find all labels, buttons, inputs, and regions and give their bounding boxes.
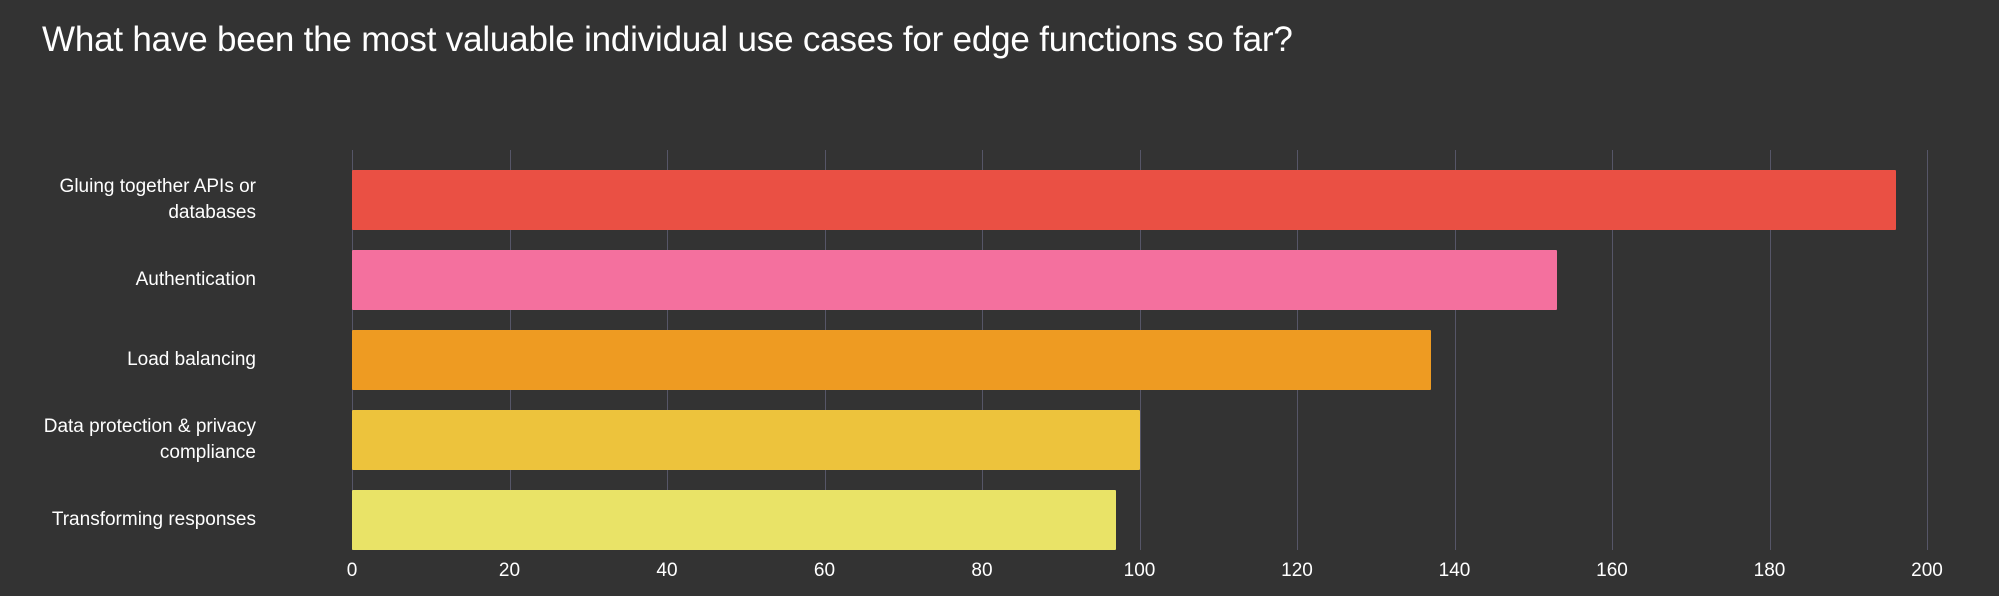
x-tick-label-180: 180: [1754, 560, 1786, 582]
chart-title: What have been the most valuable individ…: [42, 20, 1293, 60]
plot-area: Gluing together APIs or databasesAuthent…: [352, 150, 1927, 550]
x-tick-label-20: 20: [499, 560, 520, 582]
bar[interactable]: [352, 250, 1557, 310]
bar-row: Data protection & privacy compliance: [352, 390, 1927, 470]
x-tick-label-100: 100: [1124, 560, 1156, 582]
bar-row: Authentication: [352, 230, 1927, 310]
bar-chart: What have been the most valuable individ…: [0, 0, 1999, 596]
bar-row: Load balancing: [352, 310, 1927, 390]
category-label: Load balancing: [0, 347, 256, 373]
x-tick-label-200: 200: [1911, 560, 1943, 582]
category-label: Data protection & privacy compliance: [0, 414, 256, 466]
x-tick-label-0: 0: [347, 560, 358, 582]
x-tick-label-80: 80: [971, 560, 992, 582]
bar[interactable]: [352, 490, 1116, 550]
category-label: Transforming responses: [0, 507, 256, 533]
bar-row: Transforming responses: [352, 470, 1927, 550]
x-tick-label-40: 40: [656, 560, 677, 582]
x-tick-label-60: 60: [814, 560, 835, 582]
bar[interactable]: [352, 170, 1896, 230]
category-label: Authentication: [0, 267, 256, 293]
bar[interactable]: [352, 410, 1140, 470]
gridline-200: [1927, 150, 1928, 550]
category-label: Gluing together APIs or databases: [0, 174, 256, 226]
x-tick-label-160: 160: [1596, 560, 1628, 582]
x-tick-label-120: 120: [1281, 560, 1313, 582]
bar-row: Gluing together APIs or databases: [352, 150, 1927, 230]
bar[interactable]: [352, 330, 1431, 390]
x-tick-label-140: 140: [1439, 560, 1471, 582]
